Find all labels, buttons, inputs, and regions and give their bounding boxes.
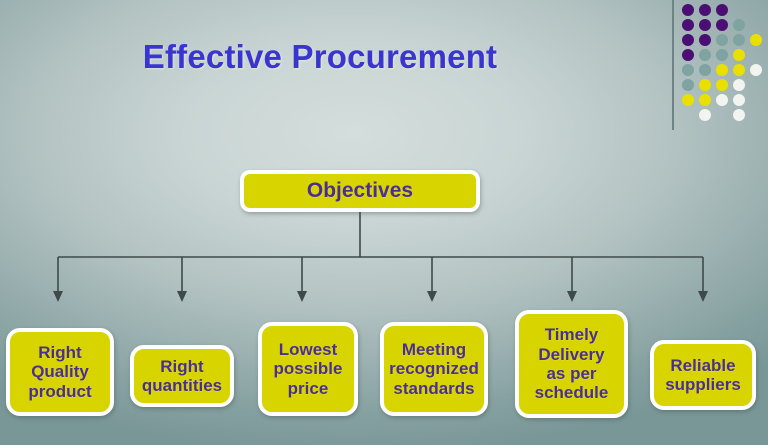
node-objectives[interactable]: Objectives (240, 170, 480, 212)
decoration-dot-white (750, 64, 762, 76)
dot-matrix-decoration (668, 0, 768, 132)
node-timely-delivery[interactable]: TimelyDeliveryas perschedule (515, 310, 628, 418)
node-meeting-recognized-standards-label: Meetingrecognizedstandards (385, 340, 483, 398)
decoration-dot-white (733, 109, 745, 121)
arrowhead-2 (177, 291, 187, 302)
decoration-dot-teal (699, 64, 711, 76)
arrowhead-1 (53, 291, 63, 302)
decoration-dot-teal (699, 49, 711, 61)
node-meeting-recognized-standards[interactable]: Meetingrecognizedstandards (380, 322, 488, 416)
decoration-dot-purple (716, 4, 728, 16)
decoration-dot-purple (716, 19, 728, 31)
decoration-dot-yellow (716, 79, 728, 91)
node-timely-delivery-label: TimelyDeliveryas perschedule (531, 325, 613, 403)
node-right-quality-product[interactable]: RightQualityproduct (6, 328, 114, 416)
decoration-dot-yellow (699, 94, 711, 106)
arrowhead-6 (698, 291, 708, 302)
decoration-dot-purple (682, 49, 694, 61)
decoration-dot-white (699, 109, 711, 121)
arrowhead-3 (297, 291, 307, 302)
node-lowest-possible-price[interactable]: Lowestpossibleprice (258, 322, 358, 416)
page-title: Effective Procurement (0, 38, 640, 76)
node-right-quantities-label: Rightquantities (138, 357, 226, 396)
decoration-dot-purple (699, 19, 711, 31)
decoration-dot-white (733, 94, 745, 106)
arrowhead-5 (567, 291, 577, 302)
decoration-dot-teal (716, 49, 728, 61)
decoration-dot-purple (682, 4, 694, 16)
node-lowest-possible-price-label: Lowestpossibleprice (270, 340, 347, 398)
decoration-dot-teal (716, 34, 728, 46)
decoration-dot-teal (682, 64, 694, 76)
decoration-dot-purple (699, 4, 711, 16)
decoration-dot-white (733, 79, 745, 91)
decoration-dot-yellow (733, 49, 745, 61)
decoration-dot-teal (733, 34, 745, 46)
arrowhead-4 (427, 291, 437, 302)
node-right-quality-product-label: RightQualityproduct (24, 343, 95, 401)
decoration-dot-teal (682, 79, 694, 91)
slide-canvas: Effective Procurement (0, 0, 768, 445)
node-reliable-suppliers-label: Reliablesuppliers (661, 356, 745, 395)
vertical-rule-divider (672, 0, 674, 130)
node-objectives-label: Objectives (307, 179, 413, 203)
decoration-dot-purple (699, 34, 711, 46)
node-right-quantities[interactable]: Rightquantities (130, 345, 234, 407)
decoration-dot-yellow (733, 64, 745, 76)
decoration-dot-yellow (699, 79, 711, 91)
decoration-dot-yellow (750, 34, 762, 46)
decoration-dot-yellow (682, 94, 694, 106)
decoration-dot-purple (682, 34, 694, 46)
decoration-dot-white (716, 94, 728, 106)
decoration-dot-teal (733, 19, 745, 31)
decoration-dot-yellow (716, 64, 728, 76)
decoration-dot-purple (682, 19, 694, 31)
node-reliable-suppliers[interactable]: Reliablesuppliers (650, 340, 756, 410)
